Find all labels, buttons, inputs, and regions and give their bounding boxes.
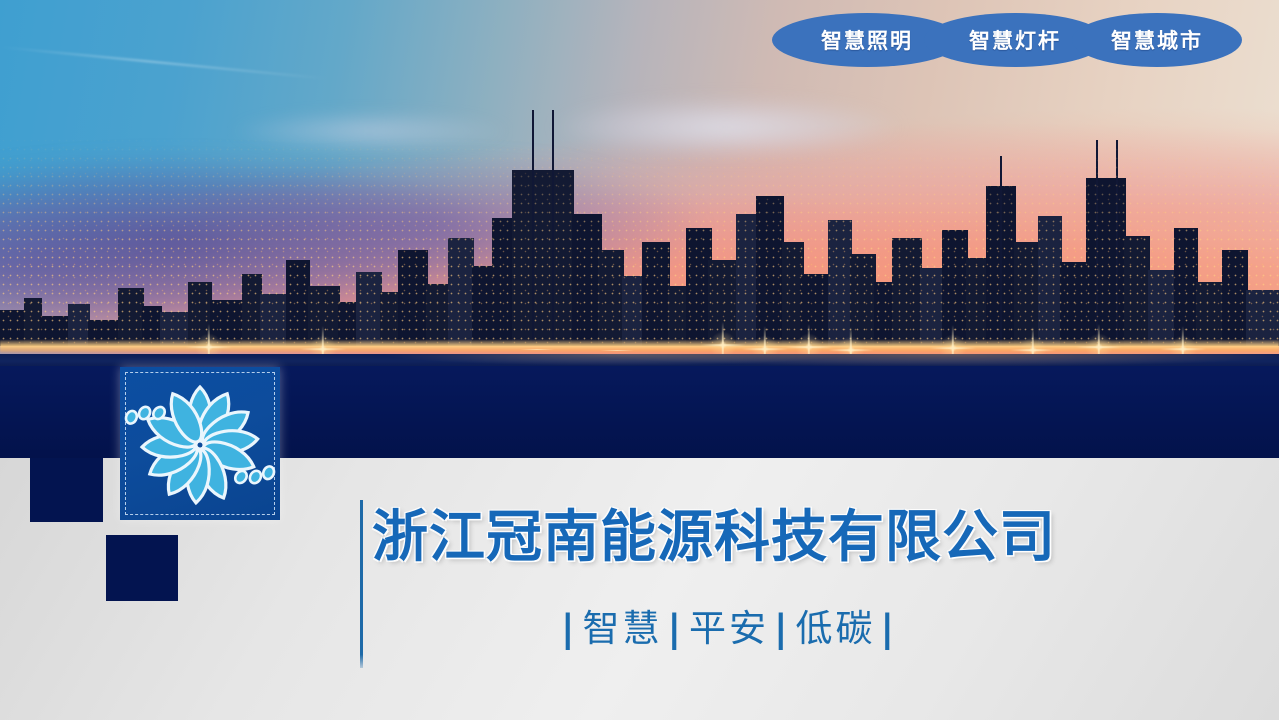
- tagline-item-0: 智慧: [583, 607, 663, 650]
- tagline-item-2: 低碳: [796, 607, 876, 650]
- company-tagline: |智慧|平安|低碳|: [556, 598, 902, 652]
- badge-smart-city[interactable]: 智慧城市: [1072, 13, 1242, 67]
- decor-square-left: [30, 458, 103, 522]
- title-accent-rule: [360, 500, 363, 668]
- company-title: 浙江冠南能源科技有限公司: [372, 492, 1056, 573]
- tagline-badge-group: 智慧照明 智慧灯杆 智慧城市: [772, 13, 1242, 67]
- tagline-sep-3: |: [876, 607, 903, 650]
- presentation-slide: 智慧照明 智慧灯杆 智慧城市: [0, 0, 1279, 720]
- badge-smart-city-label: 智慧城市: [1111, 25, 1203, 55]
- decor-square-lower: [106, 535, 178, 601]
- tagline-item-1: 平安: [689, 607, 769, 650]
- building-window-lights: [0, 136, 1279, 346]
- flower-emblem-icon: [120, 367, 280, 520]
- badge-smart-pole-label: 智慧灯杆: [969, 25, 1061, 55]
- tagline-sep-0: |: [556, 607, 583, 650]
- badge-smart-lighting-label: 智慧照明: [821, 25, 913, 55]
- shoreline-light-strip: [0, 340, 1279, 354]
- tagline-sep-1: |: [663, 607, 690, 650]
- tagline-sep-2: |: [769, 607, 796, 650]
- company-logo: [120, 367, 280, 520]
